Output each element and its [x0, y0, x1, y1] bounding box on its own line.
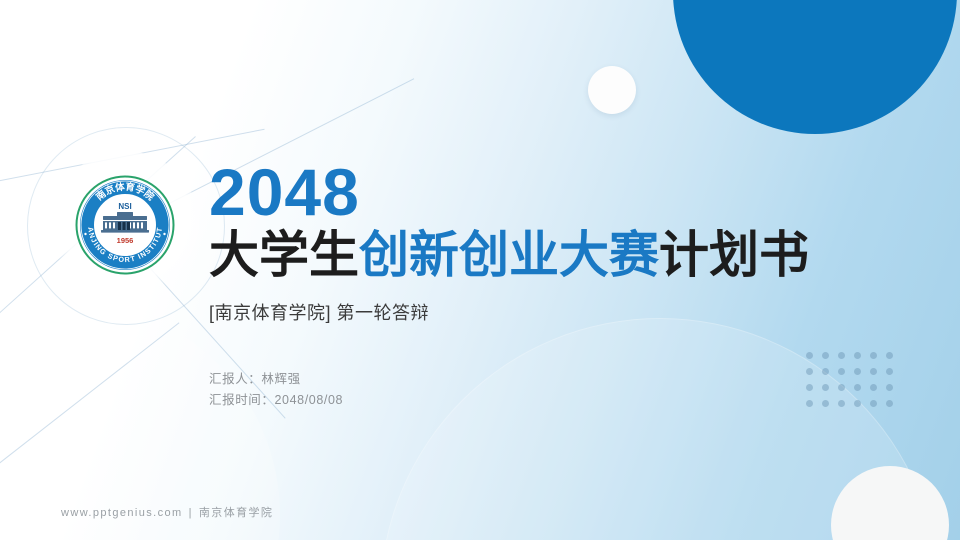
presentation-slide: 南京体育学院 NANJING SPORT INSTITUTE NSI — [0, 0, 960, 540]
university-seal-logo: 南京体育学院 NANJING SPORT INSTITUTE NSI — [72, 172, 178, 278]
decorative-circle-blue-top — [673, 0, 957, 134]
presentation-date: 汇报时间：2048/08/08 — [209, 390, 343, 411]
seal-abbreviation: NSI — [118, 202, 131, 211]
subtitle: [南京体育学院] 第一轮答辩 — [209, 299, 849, 325]
decorative-dot-grid — [806, 352, 902, 416]
decorative-dot-white-top — [588, 66, 636, 114]
headline-part-1: 大学生 — [209, 227, 359, 283]
headline-part-2-accent: 创新创业大赛 — [359, 227, 659, 283]
presenter-name: 汇报人：林辉强 — [209, 369, 343, 390]
footer: www.pptgenius.com|南京体育学院 — [61, 504, 273, 520]
footer-separator: | — [189, 507, 193, 519]
headline-part-3: 计划书 — [659, 227, 809, 283]
main-headline: 大学生创新创业大赛计划书 — [209, 226, 849, 284]
title-block: 2048 大学生创新创业大赛计划书 [南京体育学院] 第一轮答辩 — [209, 158, 849, 325]
presenter-meta: 汇报人：林辉强 汇报时间：2048/08/08 — [209, 369, 343, 411]
footer-organization: 南京体育学院 — [199, 507, 273, 519]
year-heading: 2048 — [209, 158, 849, 226]
seal-founding-year: 1956 — [117, 236, 134, 245]
footer-website[interactable]: www.pptgenius.com — [61, 507, 183, 519]
